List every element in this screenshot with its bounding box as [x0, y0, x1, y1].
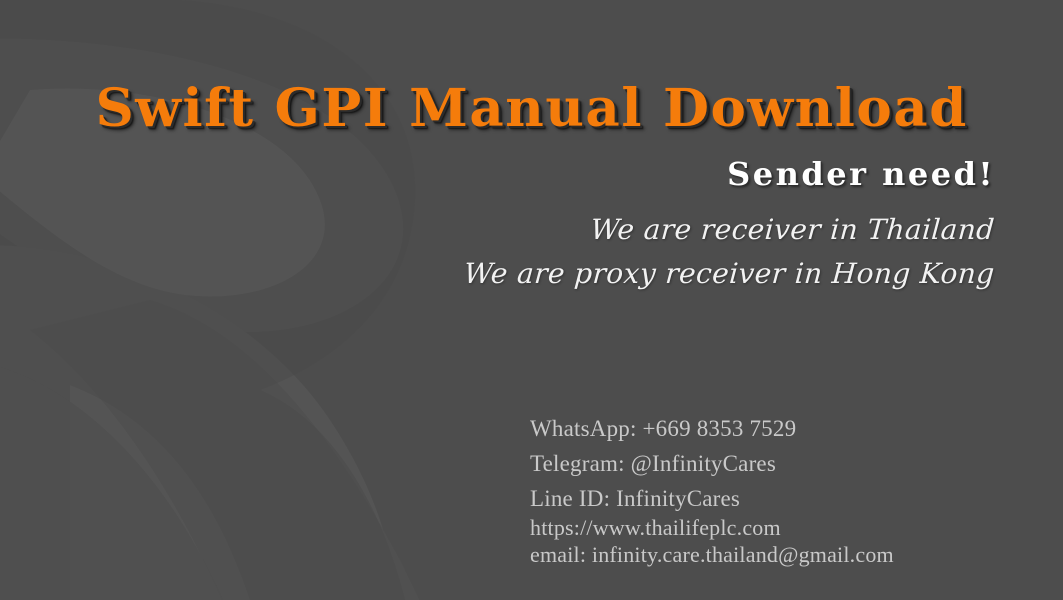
contact-whatsapp[interactable]: WhatsApp: +669 8353 7529	[530, 416, 894, 442]
contact-telegram[interactable]: Telegram: @InfinityCares	[530, 451, 894, 477]
contact-email[interactable]: email: infinity.care.thailand@gmail.com	[530, 542, 894, 568]
subheadline: Sender need!	[727, 155, 995, 193]
title: Swift GPI Manual Download	[0, 82, 1063, 137]
script-lines: We are receiver in Thailand We are proxy…	[464, 208, 995, 296]
contact-website-url[interactable]: https://www.thailifeplc.com	[530, 515, 894, 541]
title-text: Swift GPI Manual Download	[95, 82, 967, 137]
contact-block: WhatsApp: +669 8353 7529 Telegram: @Infi…	[530, 416, 894, 568]
slide-canvas: Swift GPI Manual Download Sender need! W…	[0, 0, 1063, 600]
script-line-proxy-hongkong: We are proxy receiver in Hong Kong	[463, 252, 997, 296]
subheadline-text: Sender need!	[727, 155, 995, 193]
contact-line-id[interactable]: Line ID: InfinityCares	[530, 486, 894, 512]
script-line-receiver-thailand: We are receiver in Thailand	[463, 208, 997, 252]
